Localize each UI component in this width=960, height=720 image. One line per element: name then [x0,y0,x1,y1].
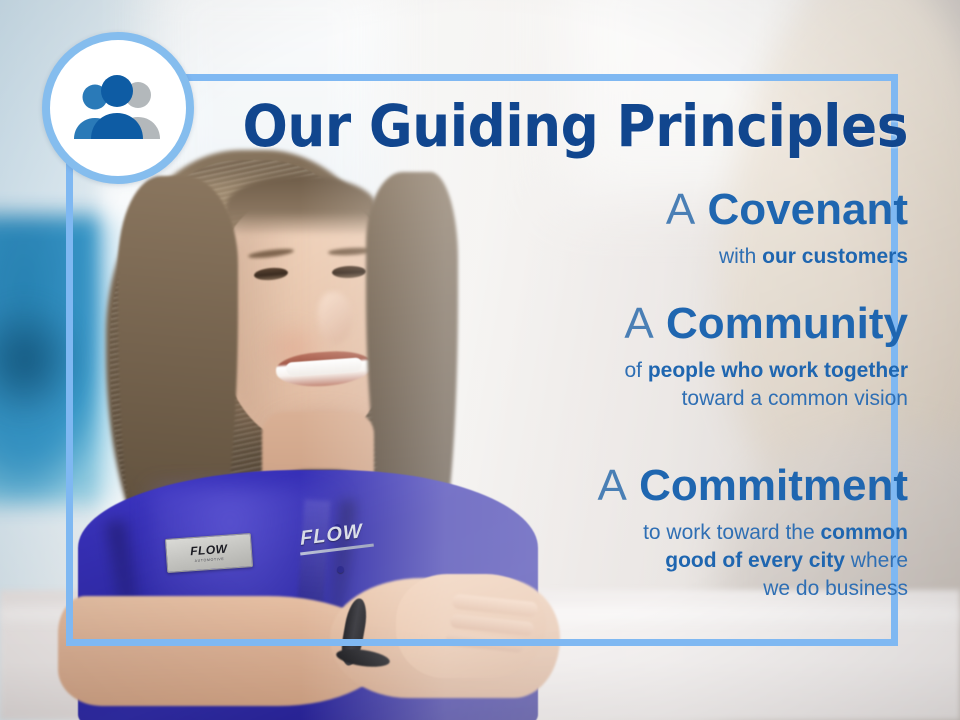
people-icon-badge [42,32,194,184]
employee-name-badge: FLOW AUTOMOTIVE [165,533,253,573]
hair-part [226,176,376,236]
people-group-icon [70,75,166,141]
shirt-button-bottom [337,566,344,573]
poster-canvas: FLOW AUTOMOTIVE FLOW [0,0,960,720]
name-badge-subtext: AUTOMOTIVE [195,557,225,563]
name-badge-logo-text: FLOW [190,543,228,558]
